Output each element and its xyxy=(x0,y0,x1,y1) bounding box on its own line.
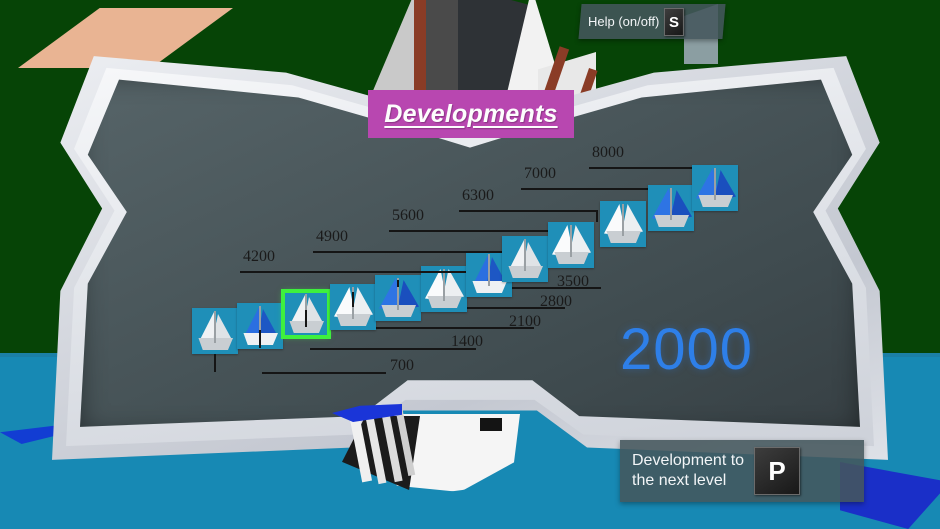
ship-bigblue2-icon xyxy=(670,188,672,220)
ladder-cost-label: 7000 xyxy=(524,165,556,183)
game-screen: Developments 700140021002800350042004900… xyxy=(0,0,940,529)
help-toggle-label: Help (on/off) xyxy=(588,14,659,29)
ladder-leader-line xyxy=(240,271,468,273)
ship-sail-icon xyxy=(524,239,526,271)
ladder-cost-label: 4200 xyxy=(243,248,275,266)
ladder-tile-6300[interactable] xyxy=(548,222,594,268)
ladder-tile-max[interactable] xyxy=(692,165,738,211)
ship-bigwhite-icon xyxy=(443,269,445,301)
ship-white4-icon xyxy=(622,204,624,236)
ladder-leader-line xyxy=(313,251,514,253)
develop-next-level-label: Development tothe next level xyxy=(632,451,744,491)
ladder-leader-line xyxy=(521,188,648,190)
help-toggle-hint[interactable]: Help (on/off) S xyxy=(578,4,725,39)
ladder-leader-line xyxy=(356,327,534,329)
ladder-cost-label: 6300 xyxy=(462,187,494,205)
ladder-tile-8000[interactable] xyxy=(648,185,694,231)
ship-white3-icon xyxy=(570,225,572,257)
ladder-leader-line xyxy=(459,210,596,212)
ladder-leader-line xyxy=(589,167,706,169)
ship-bigblue3-icon xyxy=(714,168,716,200)
ladder-tile-2800[interactable] xyxy=(330,284,376,330)
ladder-leader-line xyxy=(389,230,550,232)
ladder-leader-line xyxy=(262,372,386,374)
ship-blue2-icon xyxy=(488,254,490,286)
ladder-leader-drop xyxy=(596,210,598,222)
develop-next-level-hint[interactable]: Development tothe next level P xyxy=(620,440,864,502)
ladder-leader-line xyxy=(310,348,476,350)
ladder-tile-700[interactable] xyxy=(192,308,238,354)
help-key-cap[interactable]: S xyxy=(664,8,684,36)
current-value: 2000 xyxy=(620,316,753,383)
ladder-cost-label: 700 xyxy=(390,357,414,375)
ship-white-icon xyxy=(214,311,216,343)
ladder-leader-drop xyxy=(305,310,307,327)
ladder-cost-label: 4900 xyxy=(316,228,348,246)
ladder-leader-drop xyxy=(352,292,354,307)
ladder-tile-7000[interactable] xyxy=(600,201,646,247)
develop-key-cap[interactable]: P xyxy=(754,447,800,495)
ladder-cost-label: 5600 xyxy=(392,207,424,225)
ladder-leader-drop xyxy=(259,330,261,348)
ladder-tile-5600[interactable] xyxy=(502,236,548,282)
ladder-leader-drop xyxy=(214,354,216,372)
ladder-leader-drop xyxy=(397,280,399,287)
ladder-cost-label: 8000 xyxy=(592,144,624,162)
